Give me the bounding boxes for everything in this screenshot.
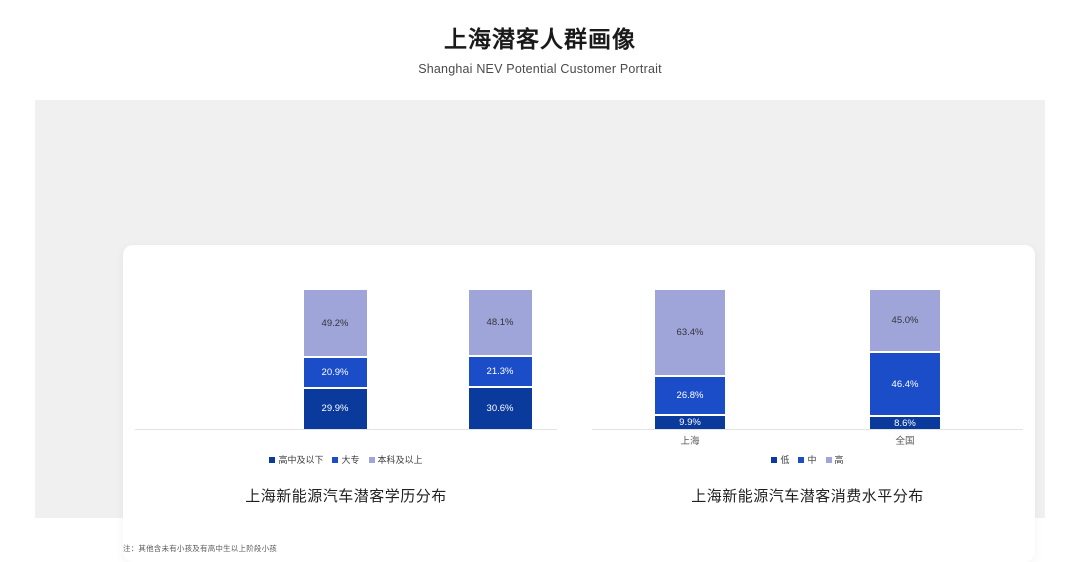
- legend-item-高中及以下[interactable]: 高中及以下: [269, 453, 323, 466]
- legend-swatch-icon: [771, 457, 777, 463]
- page-title: 上海潜客人群画像: [0, 26, 1080, 54]
- page-header: 上海潜客人群画像 Shanghai NEV Potential Customer…: [0, 0, 1080, 76]
- plot-area-education: 49.2%20.9%29.9%48.1%21.3%30.6%: [123, 290, 569, 430]
- chart-caption-education: 上海新能源汽车潜客学历分布: [123, 485, 569, 506]
- x-axis-line: [592, 429, 1023, 430]
- legend-label: 高: [835, 453, 844, 466]
- bar-segment-大专: 20.9%: [304, 357, 367, 387]
- chart-caption-consumption: 上海新能源汽车潜客消费水平分布: [580, 485, 1035, 506]
- bar-segment-高: 63.4%: [655, 290, 725, 377]
- plot-area-consumption: 63.4%26.8%9.9%45.0%46.4%8.6%: [580, 290, 1035, 430]
- bar-segment-高: 45.0%: [870, 290, 940, 352]
- chart-education: 49.2%20.9%29.9%48.1%21.3%30.6% 高中及以下大专本科…: [123, 245, 569, 562]
- legend-label: 低: [780, 453, 789, 466]
- legend-consumption: 低中高: [580, 453, 1035, 466]
- legend-label: 中: [807, 453, 816, 466]
- charts-container: 49.2%20.9%29.9%48.1%21.3%30.6% 高中及以下大专本科…: [123, 245, 1035, 562]
- bar-education-1[interactable]: 48.1%21.3%30.6%: [469, 290, 532, 429]
- legend-label: 大专: [341, 453, 359, 466]
- category-label-0: 上海: [680, 433, 699, 447]
- footnote: 注：其他含未有小孩及有高中生以上阶段小孩: [123, 543, 277, 554]
- legend-swatch-icon: [269, 457, 275, 463]
- bar-segment-中: 46.4%: [870, 352, 940, 417]
- legend-item-大专[interactable]: 大专: [332, 453, 359, 466]
- bar-education-0[interactable]: 49.2%20.9%29.9%: [304, 290, 367, 429]
- bar-segment-中: 26.8%: [655, 376, 725, 414]
- bar-consumption-0[interactable]: 63.4%26.8%9.9%: [655, 290, 725, 429]
- bar-segment-高中及以下: 30.6%: [469, 387, 532, 429]
- chart-card: 49.2%20.9%29.9%48.1%21.3%30.6% 高中及以下大专本科…: [123, 245, 1035, 562]
- legend-item-低[interactable]: 低: [771, 453, 789, 466]
- legend-label: 本科及以上: [378, 453, 423, 466]
- category-label-1: 全国: [895, 433, 914, 447]
- bar-segment-本科及以上: 49.2%: [304, 290, 367, 357]
- bar-segment-低: 8.6%: [870, 416, 940, 429]
- legend-item-本科及以上[interactable]: 本科及以上: [369, 453, 423, 466]
- content-panel: 49.2%20.9%29.9%48.1%21.3%30.6% 高中及以下大专本科…: [35, 100, 1045, 518]
- legend-education: 高中及以下大专本科及以上: [123, 453, 569, 466]
- page-subtitle: Shanghai NEV Potential Customer Portrait: [0, 62, 1080, 76]
- bar-segment-低: 9.9%: [655, 415, 725, 429]
- legend-swatch-icon: [826, 457, 832, 463]
- legend-item-高[interactable]: 高: [826, 453, 844, 466]
- category-labels-education: [123, 433, 569, 449]
- legend-item-中[interactable]: 中: [798, 453, 816, 466]
- legend-swatch-icon: [798, 457, 804, 463]
- bar-segment-高中及以下: 29.9%: [304, 388, 367, 429]
- bar-segment-本科及以上: 48.1%: [469, 290, 532, 356]
- legend-swatch-icon: [369, 457, 375, 463]
- chart-consumption: 63.4%26.8%9.9%45.0%46.4%8.6% 上海全国 低中高 上海…: [580, 245, 1035, 562]
- bar-segment-大专: 21.3%: [469, 356, 532, 387]
- x-axis-line: [135, 429, 557, 430]
- legend-swatch-icon: [332, 457, 338, 463]
- category-labels-consumption: 上海全国: [580, 433, 1035, 449]
- legend-label: 高中及以下: [278, 453, 323, 466]
- bar-consumption-1[interactable]: 45.0%46.4%8.6%: [870, 290, 940, 429]
